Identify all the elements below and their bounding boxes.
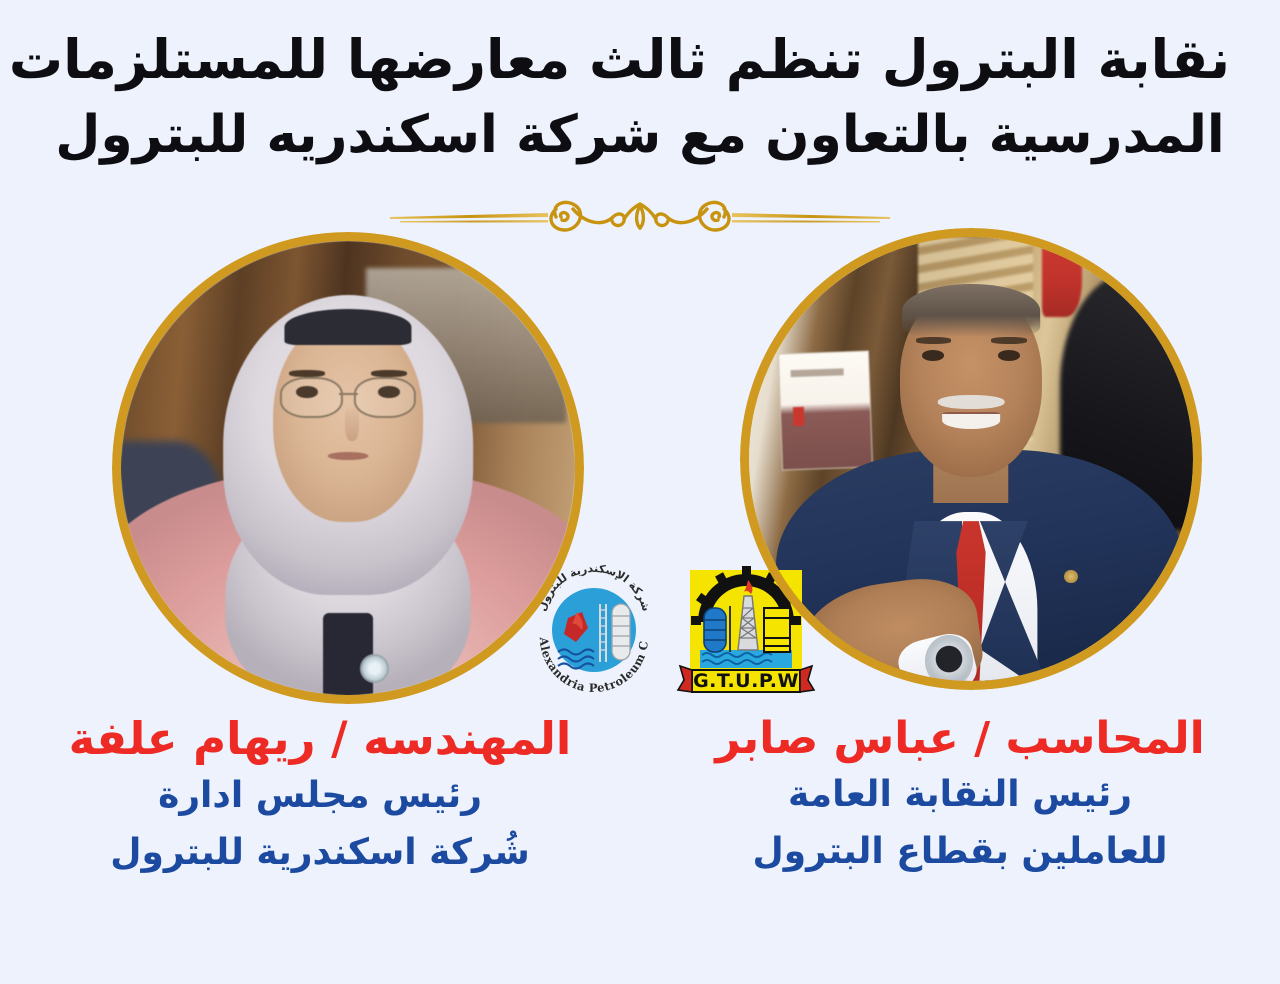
person-role-left-line-1: رئيس مجلس ادارة	[20, 772, 620, 820]
gtupw-logo-icon: G.T.U.P.W	[676, 558, 816, 703]
person-role-right-line-2: للعاملين بقطاع البترول	[660, 828, 1260, 876]
person-role-left-line-2: شُركة اسكندرية للبترول	[20, 829, 620, 877]
person-role-right-line-1: رئيس النقابة العامة	[660, 771, 1260, 819]
headline-line-1: نقابة البترول تنظم ثالث معارضها للمستلزم…	[50, 22, 1230, 99]
page-title: نقابة البترول تنظم ثالث معارضها للمستلزم…	[0, 22, 1280, 173]
headline-line-2: المدرسية بالتعاون مع شركة اسكندريه للبتر…	[50, 99, 1230, 173]
alexandria-petroleum-logo-icon: Alexandria Petroleum Co. شركة الإسكندرية…	[524, 560, 664, 700]
caption-right: المحاسب / عباس صابر رئيس النقابة العامة …	[640, 714, 1280, 876]
portrait-photo-left	[112, 232, 584, 704]
avatar-image-left	[121, 241, 575, 695]
poster-root: نقابة البترول تنظم ثالث معارضها للمستلزم…	[0, 0, 1280, 984]
person-name-right: المحاسب / عباس صابر	[660, 714, 1260, 763]
svg-text:G.T.U.P.W: G.T.U.P.W	[693, 670, 799, 692]
caption-left: المهندسه / ريهام علفة رئيس مجلس ادارة شُ…	[0, 714, 640, 877]
person-name-left: المهندسه / ريهام علفة	[20, 714, 620, 764]
